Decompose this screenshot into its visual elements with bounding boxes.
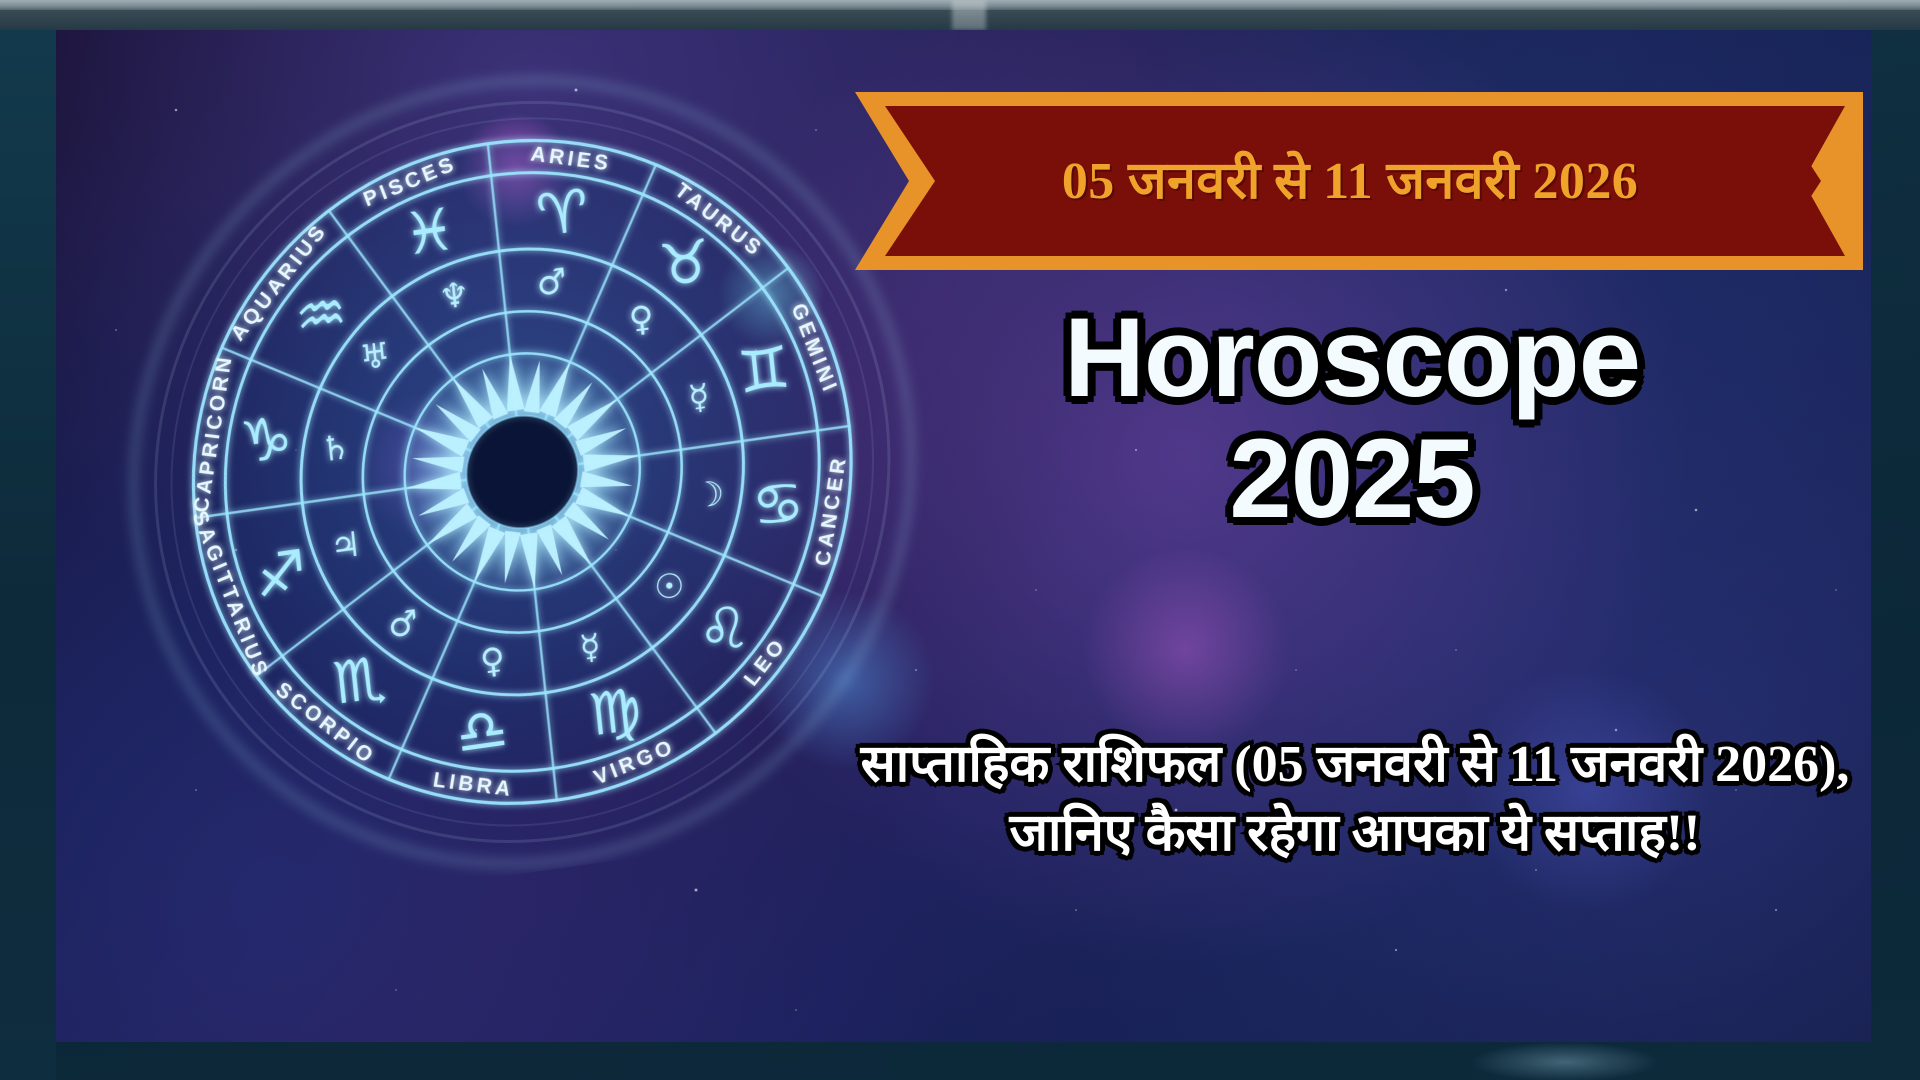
zodiac-glyph-pisces: ♓ — [400, 194, 459, 269]
screenshot-root: ♈♉♊♋♌♍♎♏♐♑♒♓ ♂♀☿☽☉☿♀♂♃♄♅♆ ARIESTAURUSGEM… — [0, 0, 1920, 1080]
zodiac-glyph-scorpio: ♏ — [330, 643, 389, 718]
mercury-symbol: ☿ — [687, 376, 712, 419]
page-title-line1: Horoscope — [846, 298, 1858, 419]
zodiac-glyph-libra: ♎ — [453, 694, 512, 769]
nebula-flare-pink — [1076, 550, 1296, 750]
horoscope-poster-image: ♈♉♊♋♌♍♎♏♐♑♒♓ ♂♀☿☽☉☿♀♂♃♄♅♆ ARIESTAURUSGEM… — [56, 30, 1871, 1042]
zodiac-glyph-aries: ♈ — [533, 175, 592, 250]
zodiac-glyph-capricorn: ♑ — [237, 403, 296, 478]
poster-title-block: Horoscope 2025 — [846, 298, 1858, 540]
moon-symbol: ☽ — [692, 473, 726, 517]
page-title-line2: 2025 — [846, 419, 1858, 540]
zodiac-glyph-aquarius: ♒ — [292, 277, 351, 352]
venus-symbol: ♀ — [478, 640, 507, 683]
venus-symbol: ♀ — [627, 298, 656, 341]
chrome-tab-hint — [952, 0, 986, 30]
sun-symbol: ☉ — [652, 565, 686, 609]
poster-subtitle: साप्ताहिक राशिफल (05 जनवरी से 11 जनवरी 2… — [852, 730, 1858, 868]
mercury-symbol: ☿ — [578, 626, 603, 669]
zodiac-glyph-gemini: ♊ — [735, 333, 794, 408]
date-range-ribbon: 05 जनवरी से 11 जनवरी 2026 — [823, 92, 1863, 270]
mars-symbol: ♂ — [535, 261, 569, 305]
saturn-symbol: ♄ — [318, 427, 352, 471]
zodiac-glyph-virgo: ♍ — [586, 675, 645, 750]
jupiter-symbol: ♃ — [328, 524, 362, 568]
mars-symbol: ♂ — [386, 602, 420, 646]
ribbon-date-text: 05 जनवरी से 11 जनवरी 2026 — [915, 109, 1785, 255]
zodiac-glyph-sagittarius: ♐ — [251, 536, 310, 611]
uranus-symbol: ♅ — [358, 335, 392, 379]
zodiac-glyph-leo: ♌ — [694, 592, 753, 667]
neptune-symbol: ♆ — [437, 274, 471, 318]
zodiac-glyph-taurus: ♉ — [656, 226, 715, 301]
page-bottom-glow — [1470, 1042, 1660, 1080]
page-left-margin — [0, 30, 56, 1080]
zodiac-glyph-cancer: ♋ — [749, 466, 808, 541]
